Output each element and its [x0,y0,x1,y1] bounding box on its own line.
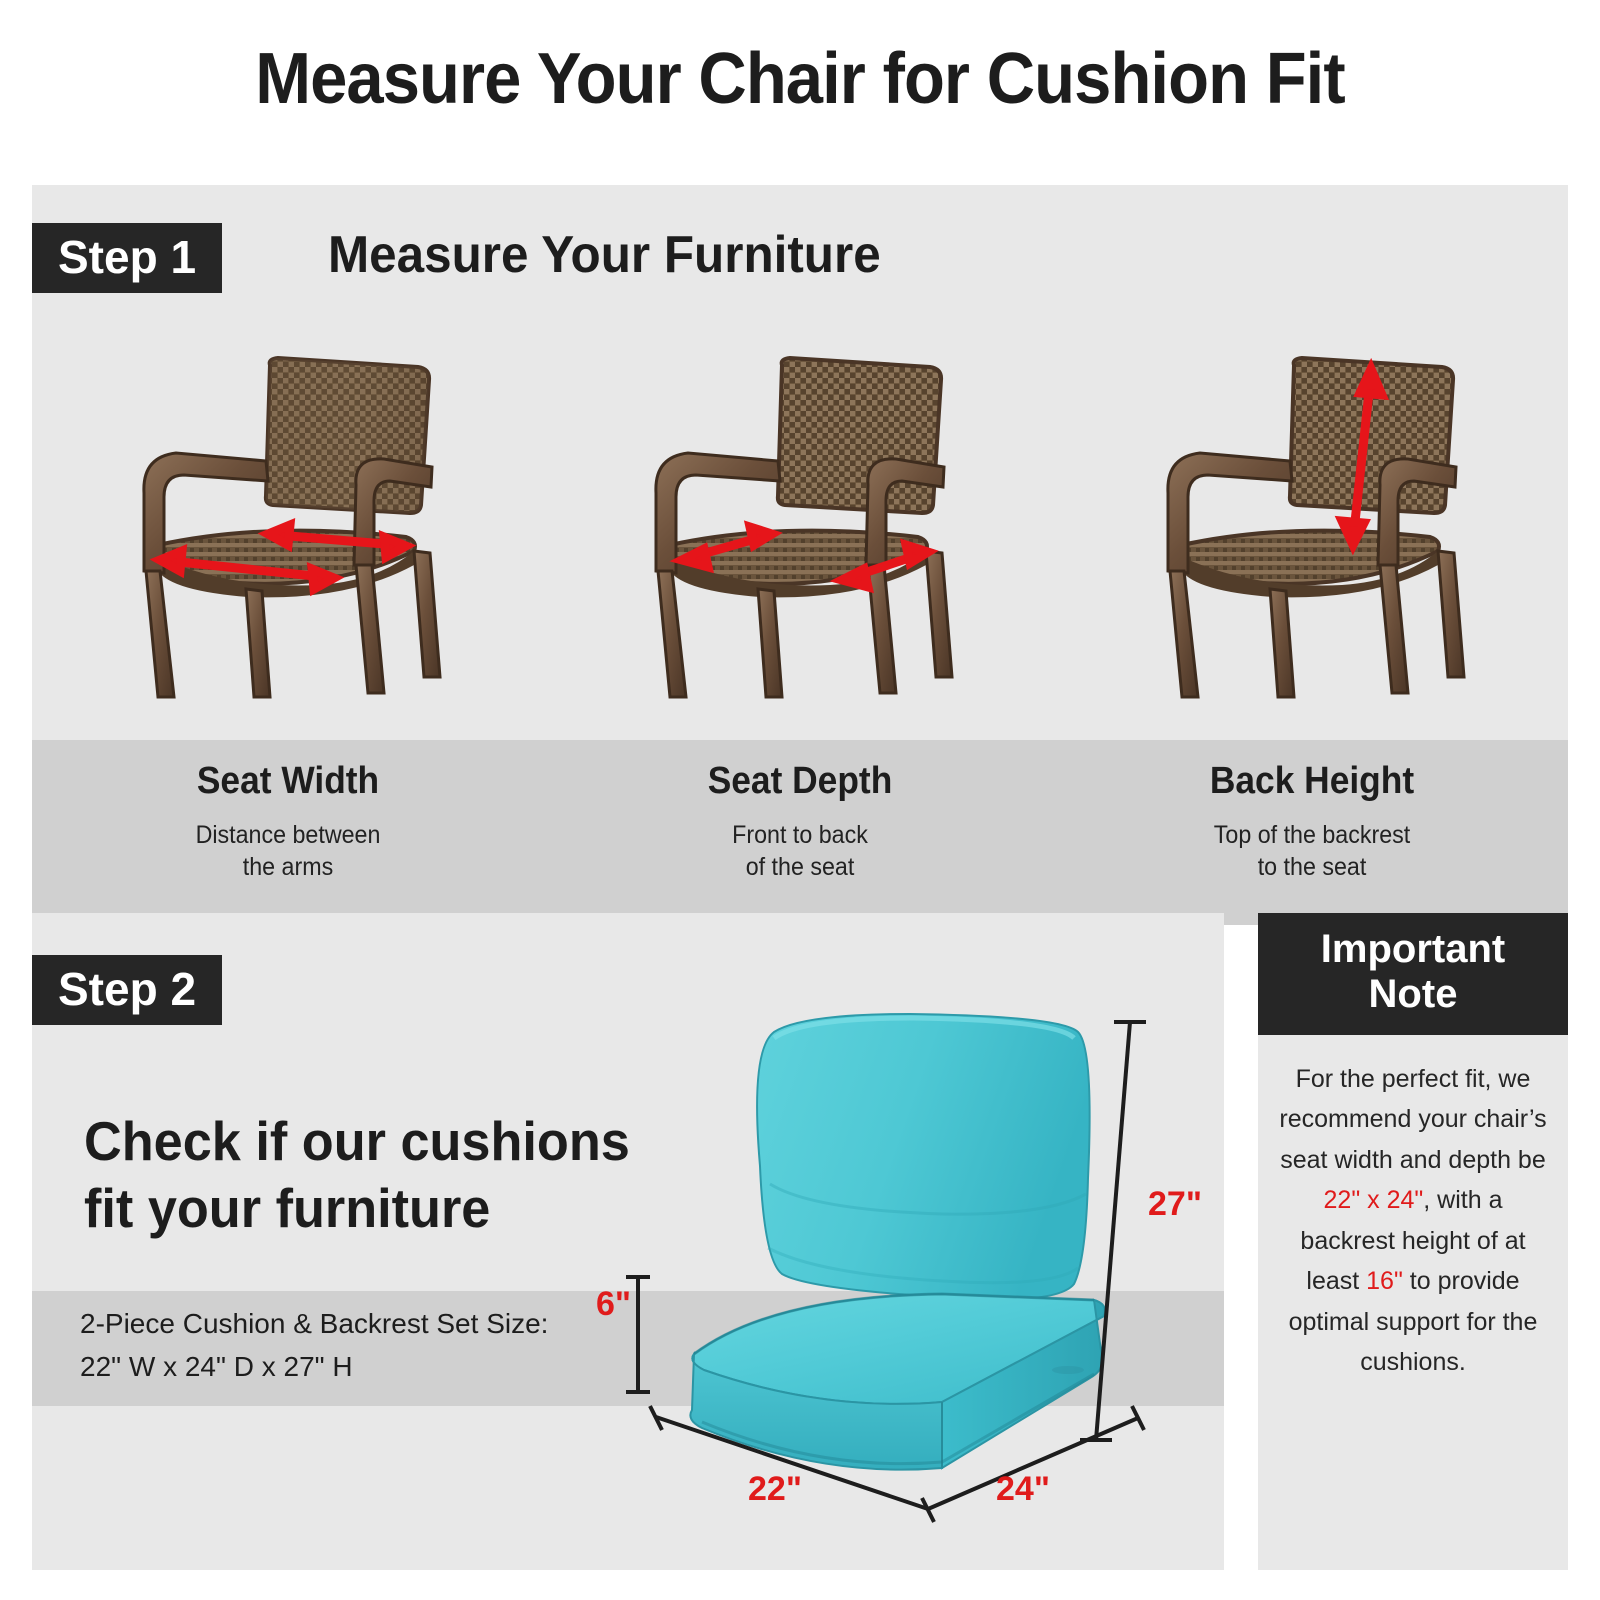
step-2-heading: Check if our cushions fit your furniture [84,1108,630,1242]
note-highlight-dimensions: 22" x 24" [1324,1186,1424,1214]
step-1-heading: Measure Your Furniture [328,225,881,285]
cushion-size-line2: 22" W x 24" D x 27" H [80,1346,548,1389]
note-text-pre: For the perfect fit, we recommend your c… [1279,1065,1546,1174]
important-note-header: Important Note [1258,913,1568,1035]
caption-sub-line2: the arms [50,851,526,883]
dimension-label-width: 22" [748,1470,802,1509]
step-2-heading-line2: fit your furniture [84,1175,630,1242]
cushion-illustration [642,998,1202,1538]
infographic-page: Measure Your Chair for Cushion Fit Step … [0,0,1600,1600]
caption-sub-line2: to the seat [1074,851,1550,883]
caption-sub-line2: of the seat [562,851,1038,883]
measurement-captions: Seat Width Distance between the arms Sea… [32,740,1568,925]
chair-illustration-2 [630,345,970,715]
important-note-panel: Important Note For the perfect fit, we r… [1258,913,1568,1570]
caption-title: Back Height [1074,760,1550,803]
page-title: Measure Your Chair for Cushion Fit [56,38,1544,120]
cushion-size-line1: 2-Piece Cushion & Backrest Set Size: [80,1303,548,1346]
dimension-label-depth: 24" [996,1470,1050,1509]
cushion-size-text: 2-Piece Cushion & Backrest Set Size: 22"… [80,1303,548,1388]
caption-seat-width: Seat Width Distance between the arms [32,740,544,925]
chair-seat-depth [544,315,1056,715]
note-highlight-backrest: 16" [1366,1267,1403,1295]
chair-illustrations-row [32,315,1568,715]
important-note-body: For the perfect fit, we recommend your c… [1258,1035,1568,1383]
chair-illustration-3 [1142,345,1482,715]
caption-seat-depth: Seat Depth Front to back of the seat [544,740,1056,925]
backrest-cushion [757,1014,1090,1299]
note-header-line1: Important [1268,927,1558,972]
caption-title: Seat Depth [562,760,1038,803]
step-1-badge: Step 1 [32,223,222,293]
step-2-badge: Step 2 [32,955,222,1025]
caption-sub-line1: Distance between [50,819,526,851]
note-header-line2: Note [1268,972,1558,1017]
caption-back-height: Back Height Top of the backrest to the s… [1056,740,1568,925]
chair-illustration-1 [118,345,458,715]
caption-sub-line1: Front to back [562,819,1038,851]
chair-back-height [1056,315,1568,715]
chair-seat-width [32,315,544,715]
step-2-heading-line1: Check if our cushions [84,1108,630,1175]
caption-sub-line1: Top of the backrest [1074,819,1550,851]
dimension-label-thickness: 6" [596,1285,631,1324]
step-1-panel: Step 1 Measure Your Furniture [32,185,1568,925]
cushion-svg [642,998,1202,1558]
caption-title: Seat Width [50,760,526,803]
dimension-label-height: 27" [1148,1185,1202,1224]
